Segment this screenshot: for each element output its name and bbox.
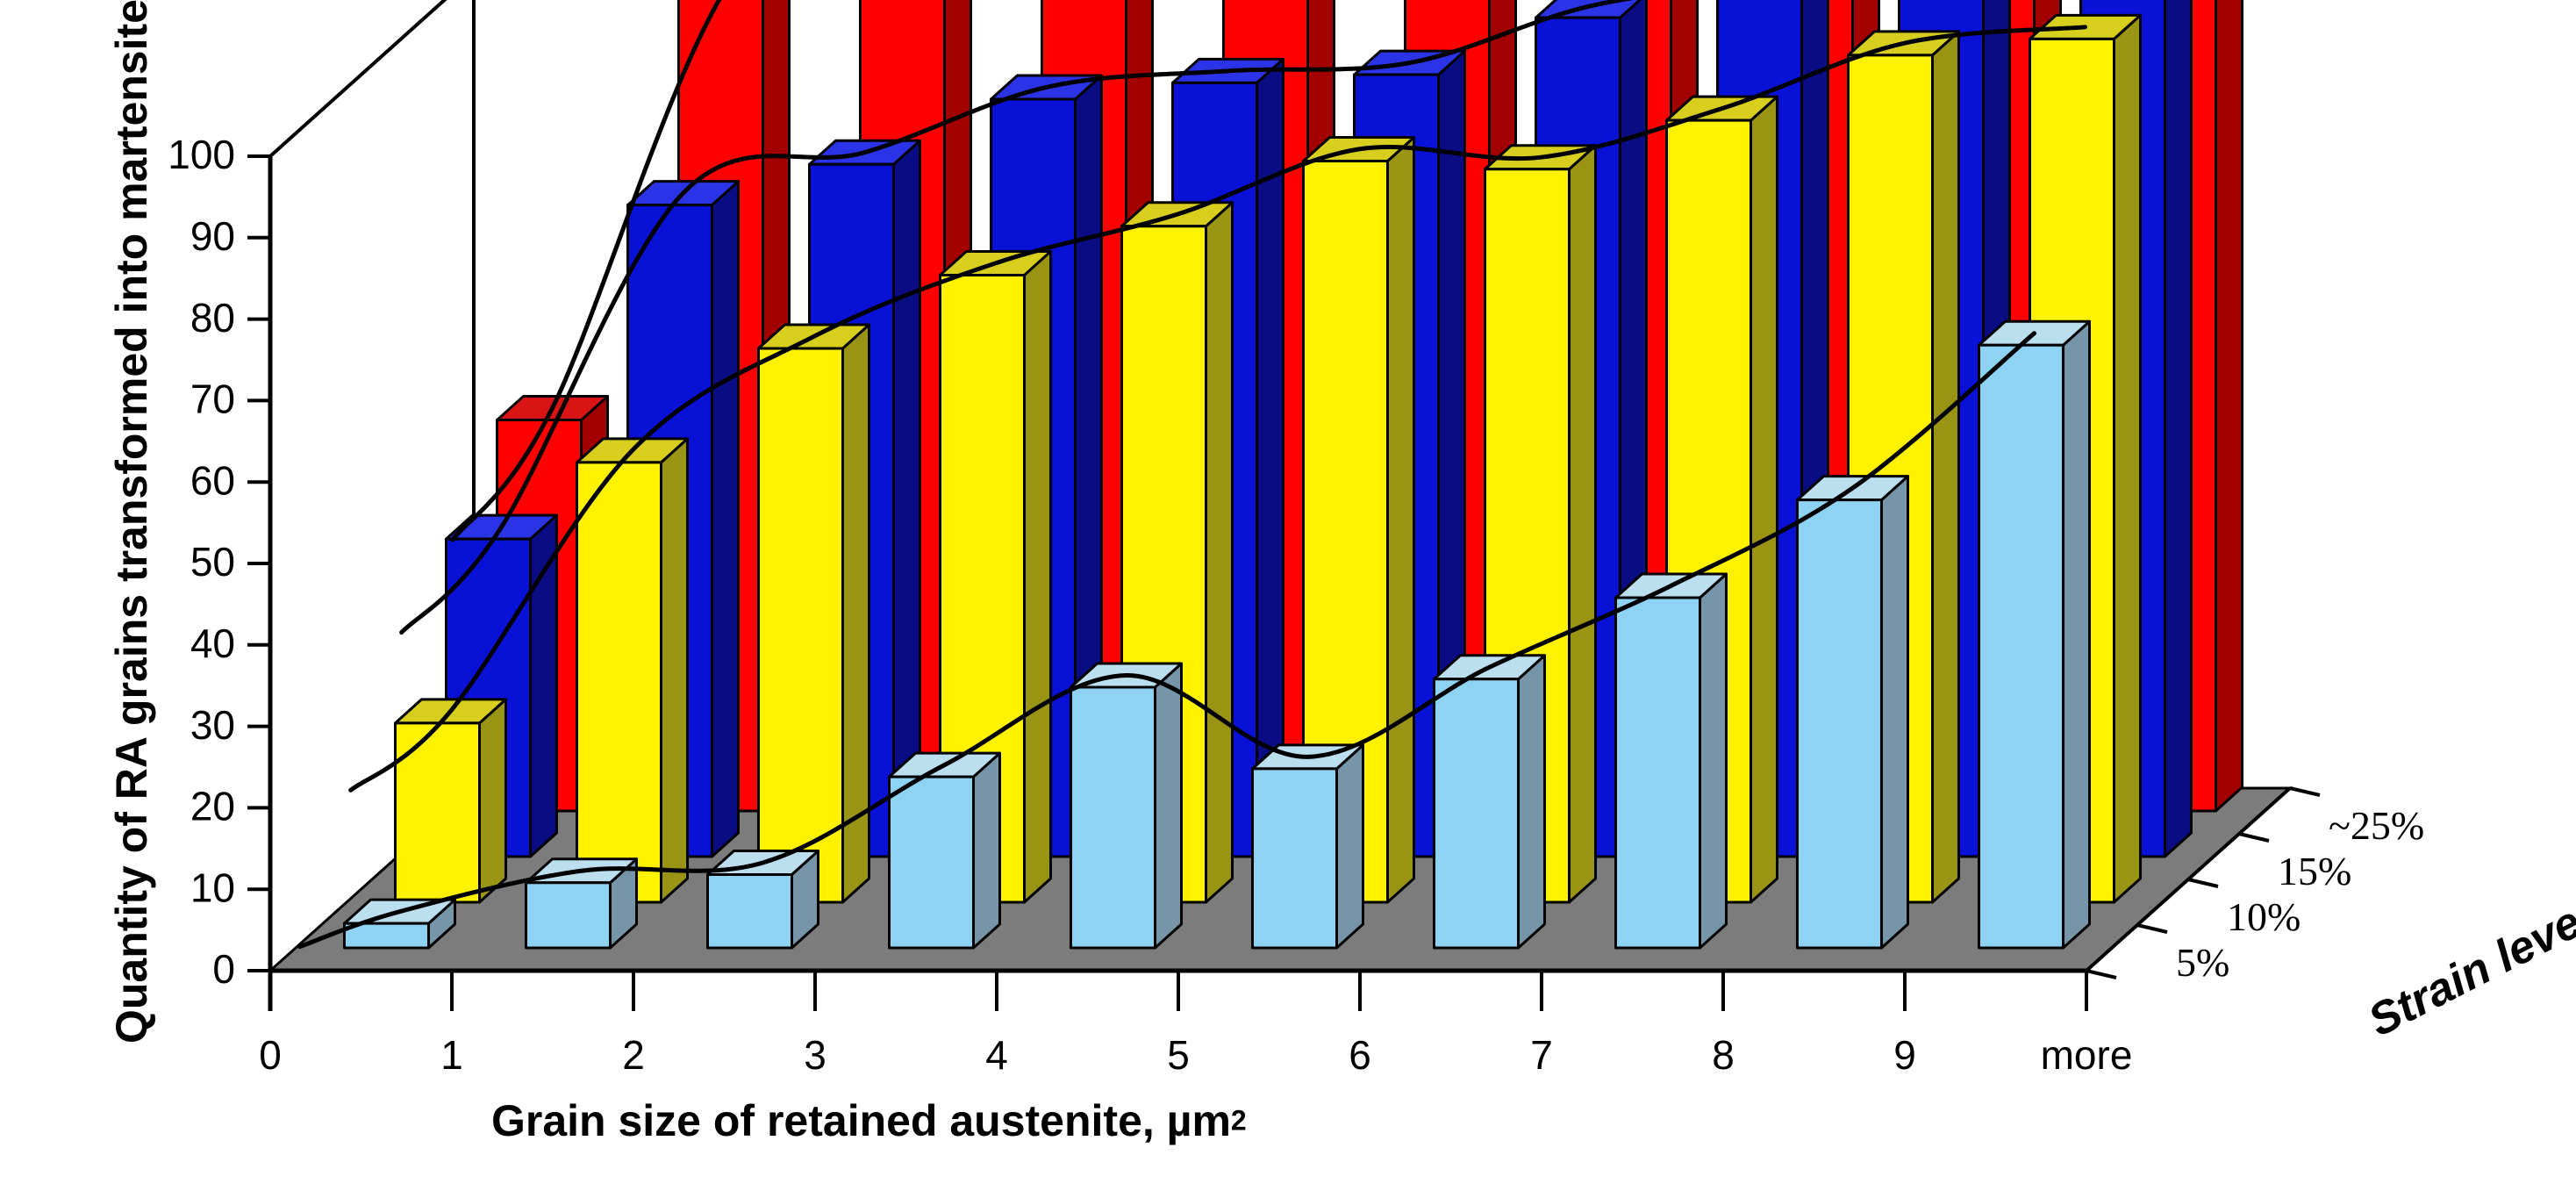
bar-side-face — [2064, 321, 2090, 948]
bar-front-face — [396, 723, 480, 902]
bar-front-face — [1798, 500, 1882, 948]
bar-side-face — [1156, 664, 1182, 948]
bar-side-face — [1751, 97, 1778, 902]
y-axis-title: Quantity of RA grains transformed into m… — [107, 0, 156, 1044]
y-axis-tick-label: 20 — [190, 784, 235, 829]
x-axis-tick-label: 4 — [985, 1032, 1008, 1078]
bar-side-face — [1700, 574, 1727, 948]
chart-canvas: 01020304050607080901000123456789more5%10… — [0, 0, 2576, 1198]
bar-side-face — [712, 182, 739, 857]
bar-side-face — [531, 515, 557, 857]
z-axis-tick — [2239, 834, 2269, 841]
bar-side-face — [1025, 251, 1051, 902]
z-axis-series-label: 5% — [2176, 940, 2229, 985]
x-axis-tick-label: 5 — [1167, 1032, 1190, 1078]
bar-side-face — [2216, 0, 2243, 811]
bar-side-face — [1388, 138, 1414, 902]
bar-5%-7 — [1435, 656, 1545, 948]
z-axis-tick — [2086, 971, 2116, 978]
x-axis-title-wrap: Grain size of retained austenite, µm2 — [491, 1095, 1247, 1146]
bar-side-face — [1519, 656, 1545, 948]
top-left-diagonal — [270, 0, 474, 156]
y-axis-tick-label: 100 — [168, 132, 235, 177]
bar-front-face — [1253, 769, 1337, 948]
bar-5%-more — [1979, 321, 2090, 948]
x-axis-tick-label: 0 — [259, 1032, 282, 1078]
z-axis-tick — [2137, 925, 2167, 932]
bar-side-face — [1933, 32, 1959, 902]
z-axis-series-label: 15% — [2278, 849, 2351, 893]
bar-10%-3 — [759, 325, 869, 902]
x-axis-title: Grain size of retained austenite, µm — [491, 1096, 1231, 1145]
x-axis-tick-label: 9 — [1893, 1032, 1916, 1078]
y-axis-tick-label: 70 — [190, 377, 235, 422]
y-axis-tick-label: 90 — [190, 213, 235, 259]
x-axis-tick-label: 6 — [1349, 1032, 1371, 1078]
bar-front-face — [759, 348, 843, 902]
z-axis-tick — [2188, 879, 2218, 886]
bar-front-face — [890, 777, 974, 948]
bar-5%-9 — [1798, 477, 1908, 948]
bar-front-face — [1435, 679, 1519, 948]
bar-side-face — [1570, 146, 1596, 902]
bar-front-face — [1071, 687, 1156, 948]
y-axis-tick-label: 10 — [190, 864, 235, 910]
y-axis-tick-label: 50 — [190, 539, 235, 585]
z-axis-tick — [2290, 788, 2320, 795]
bar-5%-5 — [1071, 664, 1182, 948]
bar-front-face — [1979, 345, 2064, 948]
z-axis-series-label: ~25% — [2329, 803, 2424, 848]
x-axis-tick-label: 8 — [1712, 1032, 1735, 1078]
bar-front-face — [1616, 598, 1700, 948]
bar-front-face — [526, 883, 611, 948]
bar-5%-3 — [708, 850, 819, 948]
bar-side-face — [894, 140, 920, 857]
bar-side-face — [974, 753, 1000, 948]
bar-side-face — [2165, 0, 2192, 857]
z-axis-series-label: 10% — [2227, 894, 2301, 939]
bar-side-face — [1882, 477, 1908, 948]
y-axis-tick-label: 80 — [190, 295, 235, 341]
x-axis-tick-label: 7 — [1530, 1032, 1553, 1078]
bar-side-face — [1206, 203, 1233, 902]
3d-bar-chart: 01020304050607080901000123456789more5%10… — [0, 0, 2576, 1198]
y-axis-title-wrap: Quantity of RA grains transformed into m… — [106, 78, 157, 1044]
y-axis-tick-label: 30 — [190, 702, 235, 748]
bar-side-face — [2114, 15, 2141, 902]
bar-front-face — [577, 463, 662, 902]
bar-side-face — [662, 439, 688, 902]
bar-5%-4 — [890, 753, 1000, 948]
y-axis-tick-label: 40 — [190, 621, 235, 666]
x-axis-tick-label: 1 — [440, 1032, 463, 1078]
bar-5%-6 — [1253, 745, 1363, 948]
y-axis-tick-label: 60 — [190, 457, 235, 503]
x-axis-title-superscript: 2 — [1231, 1105, 1247, 1137]
x-axis-tick-label: more — [2041, 1032, 2133, 1078]
x-axis-tick-label: 2 — [622, 1032, 645, 1078]
bar-front-face — [708, 874, 792, 948]
bar-side-face — [1337, 745, 1363, 948]
bar-side-face — [480, 699, 506, 902]
bar-5%-8 — [1616, 574, 1727, 948]
y-axis-tick-label: 0 — [212, 946, 235, 992]
bar-10%-1 — [396, 699, 506, 902]
bar-10%-2 — [577, 439, 688, 902]
x-axis-tick-label: 3 — [804, 1032, 826, 1078]
